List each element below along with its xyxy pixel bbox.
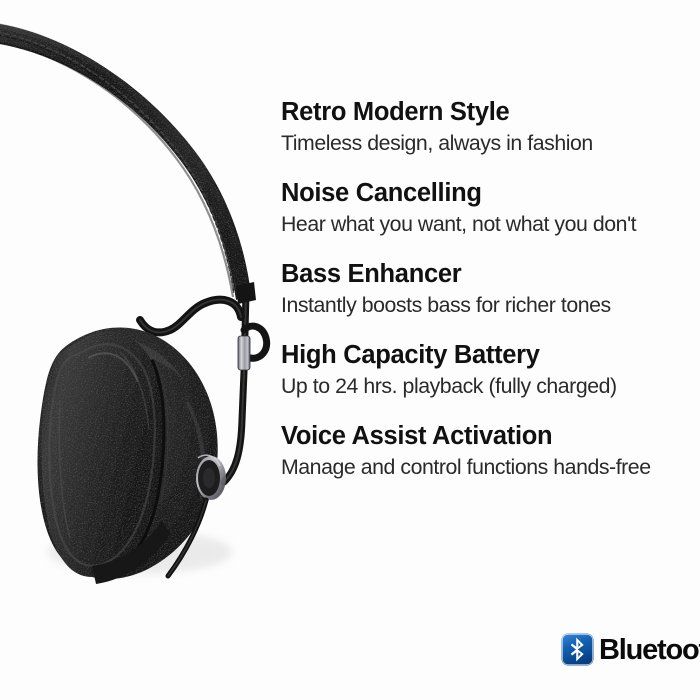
headphone-earcup [37,327,232,584]
feature-description: Up to 24 hrs. playback (fully charged) [281,373,700,400]
bluetooth-wordmark: Bluetooth [599,636,700,665]
feature-list: Retro Modern Style Timeless design, alwa… [281,98,700,503]
feature-item-bass-enhancer: Bass Enhancer Instantly boosts bass for … [281,260,700,319]
feature-title: Retro Modern Style [281,98,700,128]
feature-item-voice-assist-activation: Voice Assist Activation Manage and contr… [281,422,700,481]
feature-item-noise-cancelling: Noise Cancelling Hear what you want, not… [281,179,700,238]
feature-description: Instantly boosts bass for richer tones [281,292,700,319]
feature-highlight-canvas: Retro Modern Style Timeless design, alwa… [0,0,700,700]
bluetooth-logo: Bluetooth ™ [561,631,700,667]
feature-title: Bass Enhancer [281,260,700,290]
feature-title: Voice Assist Activation [281,422,700,452]
feature-item-high-capacity-battery: High Capacity Battery Up to 24 hrs. play… [281,341,700,400]
feature-description: Timeless design, always in fashion [281,130,700,157]
feature-description: Hear what you want, not what you don't [281,211,700,238]
bluetooth-icon [561,633,594,666]
feature-title: High Capacity Battery [281,341,700,371]
feature-title: Noise Cancelling [281,179,700,209]
product-image [0,0,300,620]
feature-item-retro-modern-style: Retro Modern Style Timeless design, alwa… [281,98,700,157]
headphone-headband [0,22,251,300]
headband-chrome-slider [238,336,250,370]
feature-description: Manage and control functions hands-free [281,454,700,481]
